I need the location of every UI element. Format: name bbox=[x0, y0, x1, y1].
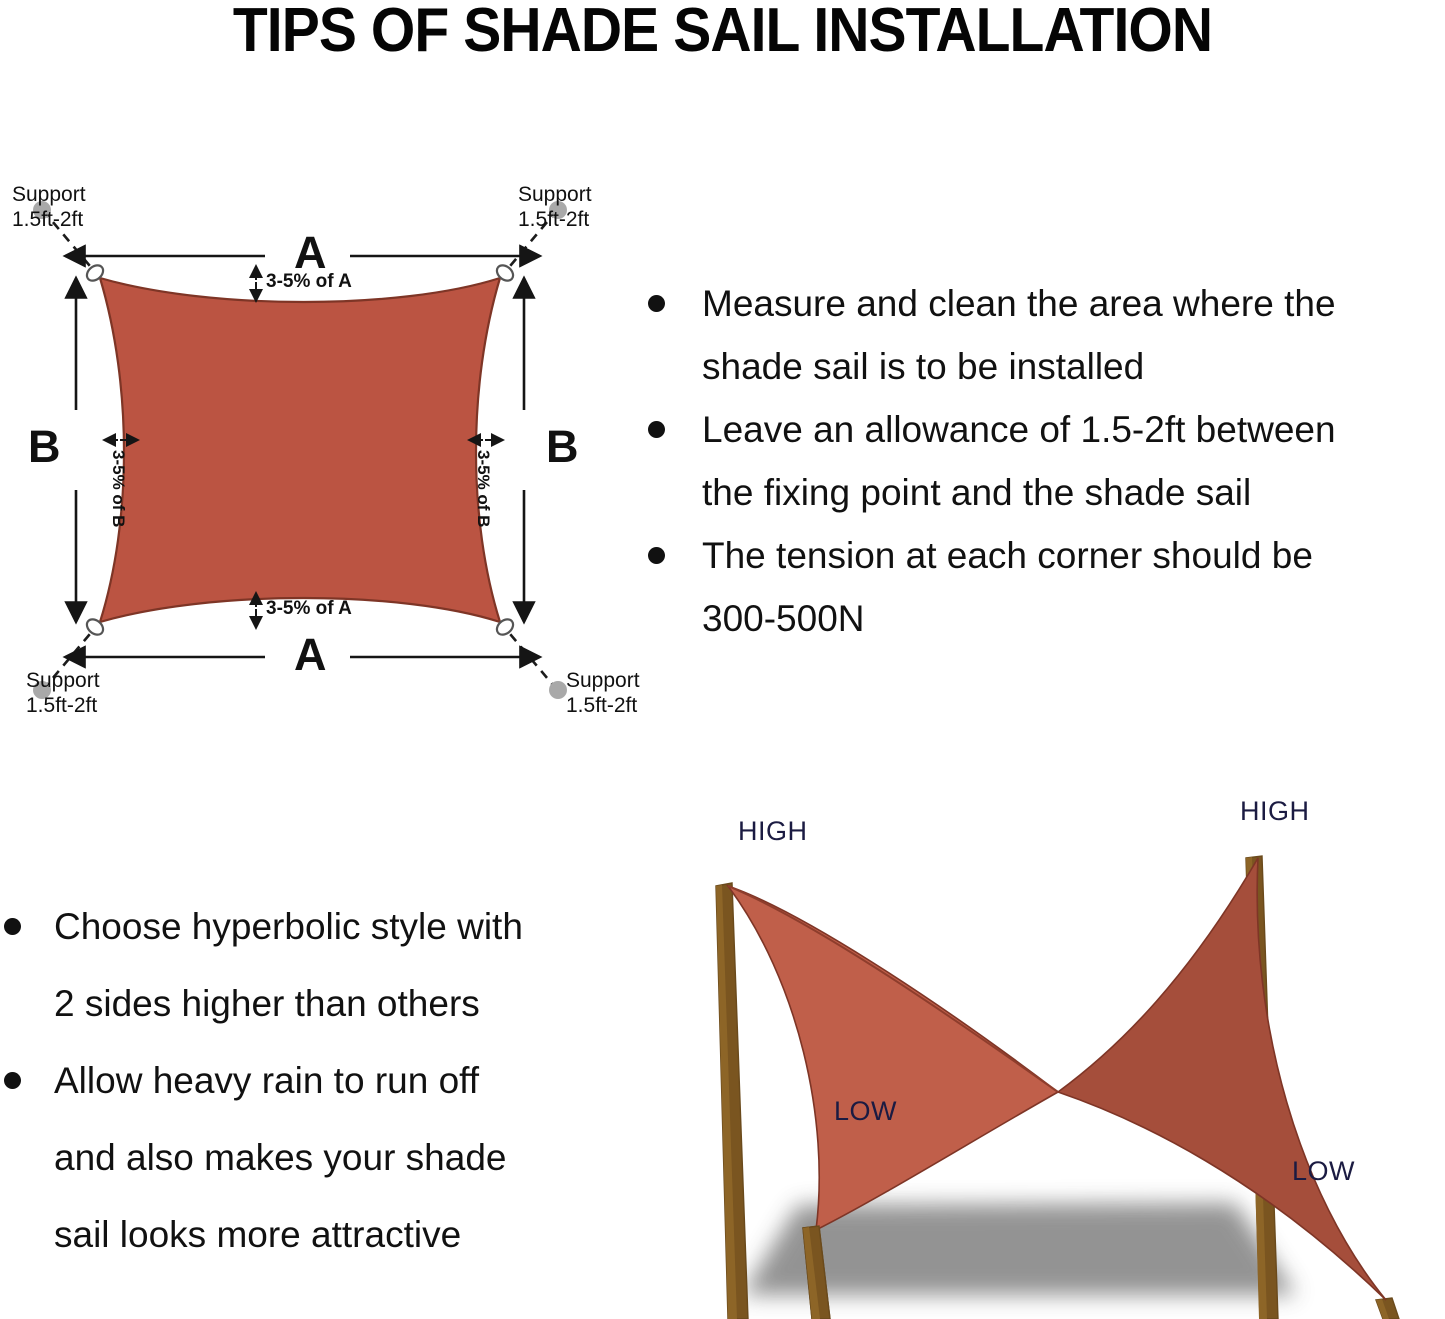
label-high-left: HIGH bbox=[738, 816, 808, 847]
infographic-page: TIPS OF SHADE SAIL INSTALLATION bbox=[0, 0, 1445, 1319]
list-item-line: The tension at each corner should be bbox=[702, 524, 1445, 587]
bullet-dot-icon bbox=[648, 421, 665, 438]
list-item-line: sail looks more attractive bbox=[54, 1196, 644, 1273]
bullet-dot-icon bbox=[648, 295, 665, 312]
support-label-line1: Support bbox=[566, 668, 640, 693]
list-item: Leave an allowance of 1.5-2ft between th… bbox=[648, 398, 1445, 524]
label-high-right: HIGH bbox=[1240, 796, 1310, 827]
list-item-line: 300-500N bbox=[702, 587, 1445, 650]
support-dot-bottom-right bbox=[549, 681, 567, 699]
support-label-top-right: Support 1.5ft-2ft bbox=[518, 182, 592, 232]
sag-label-left: 3-5% of B bbox=[108, 450, 128, 527]
support-label-line2: 1.5ft-2ft bbox=[26, 693, 100, 718]
dimension-label-a-bottom: A bbox=[294, 632, 327, 677]
list-item-line: Leave an allowance of 1.5-2ft between bbox=[702, 398, 1445, 461]
list-item-line: Allow heavy rain to run off bbox=[54, 1042, 644, 1119]
list-item-line: and also makes your shade bbox=[54, 1119, 644, 1196]
support-label-line2: 1.5ft-2ft bbox=[566, 693, 640, 718]
support-label-line1: Support bbox=[26, 668, 100, 693]
label-low-left: LOW bbox=[834, 1096, 897, 1127]
support-label-line2: 1.5ft-2ft bbox=[518, 207, 592, 232]
page-title: TIPS OF SHADE SAIL INSTALLATION bbox=[58, 0, 1387, 66]
rectangular-sail-diagram: Support 1.5ft-2ft Support 1.5ft-2ft Supp… bbox=[0, 160, 660, 720]
support-label-bottom-right: Support 1.5ft-2ft bbox=[566, 668, 640, 718]
dimension-label-b-left: B bbox=[28, 424, 61, 469]
dimension-label-a-top: A bbox=[294, 230, 327, 275]
support-label-bottom-left: Support 1.5ft-2ft bbox=[26, 668, 100, 718]
list-item-line: the fixing point and the shade sail bbox=[702, 461, 1445, 524]
list-item-line: Choose hyperbolic style with bbox=[54, 888, 644, 965]
sag-label-right: 3-5% of B bbox=[473, 450, 493, 527]
sag-label-top: 3-5% of A bbox=[266, 272, 352, 292]
list-item-line: Measure and clean the area where the bbox=[702, 272, 1445, 335]
dimension-label-b-right: B bbox=[546, 424, 579, 469]
label-low-right: LOW bbox=[1292, 1156, 1355, 1187]
list-item: Measure and clean the area where the sha… bbox=[648, 272, 1445, 398]
installation-tips-list-right: Measure and clean the area where the sha… bbox=[648, 272, 1445, 650]
hyperbolic-sail-diagram: HIGH HIGH LOW LOW bbox=[670, 790, 1445, 1319]
installation-tips-list-left: Choose hyperbolic style with 2 sides hig… bbox=[4, 888, 644, 1273]
hyperbolic-sail-svg bbox=[670, 790, 1445, 1319]
list-item-line: 2 sides higher than others bbox=[54, 965, 644, 1042]
bullet-dot-icon bbox=[4, 1072, 21, 1089]
shade-sail-shape bbox=[100, 278, 500, 622]
list-item-line: shade sail is to be installed bbox=[702, 335, 1445, 398]
list-item: Choose hyperbolic style with 2 sides hig… bbox=[4, 888, 644, 1042]
list-item: The tension at each corner should be 300… bbox=[648, 524, 1445, 650]
bullet-dot-icon bbox=[648, 547, 665, 564]
list-item: Allow heavy rain to run off and also mak… bbox=[4, 1042, 644, 1273]
support-label-top-left: Support 1.5ft-2ft bbox=[12, 182, 86, 232]
support-label-line1: Support bbox=[12, 182, 86, 207]
support-label-line2: 1.5ft-2ft bbox=[12, 207, 86, 232]
sag-label-bottom: 3-5% of A bbox=[266, 599, 352, 619]
bullet-dot-icon bbox=[4, 918, 21, 935]
support-label-line1: Support bbox=[518, 182, 592, 207]
